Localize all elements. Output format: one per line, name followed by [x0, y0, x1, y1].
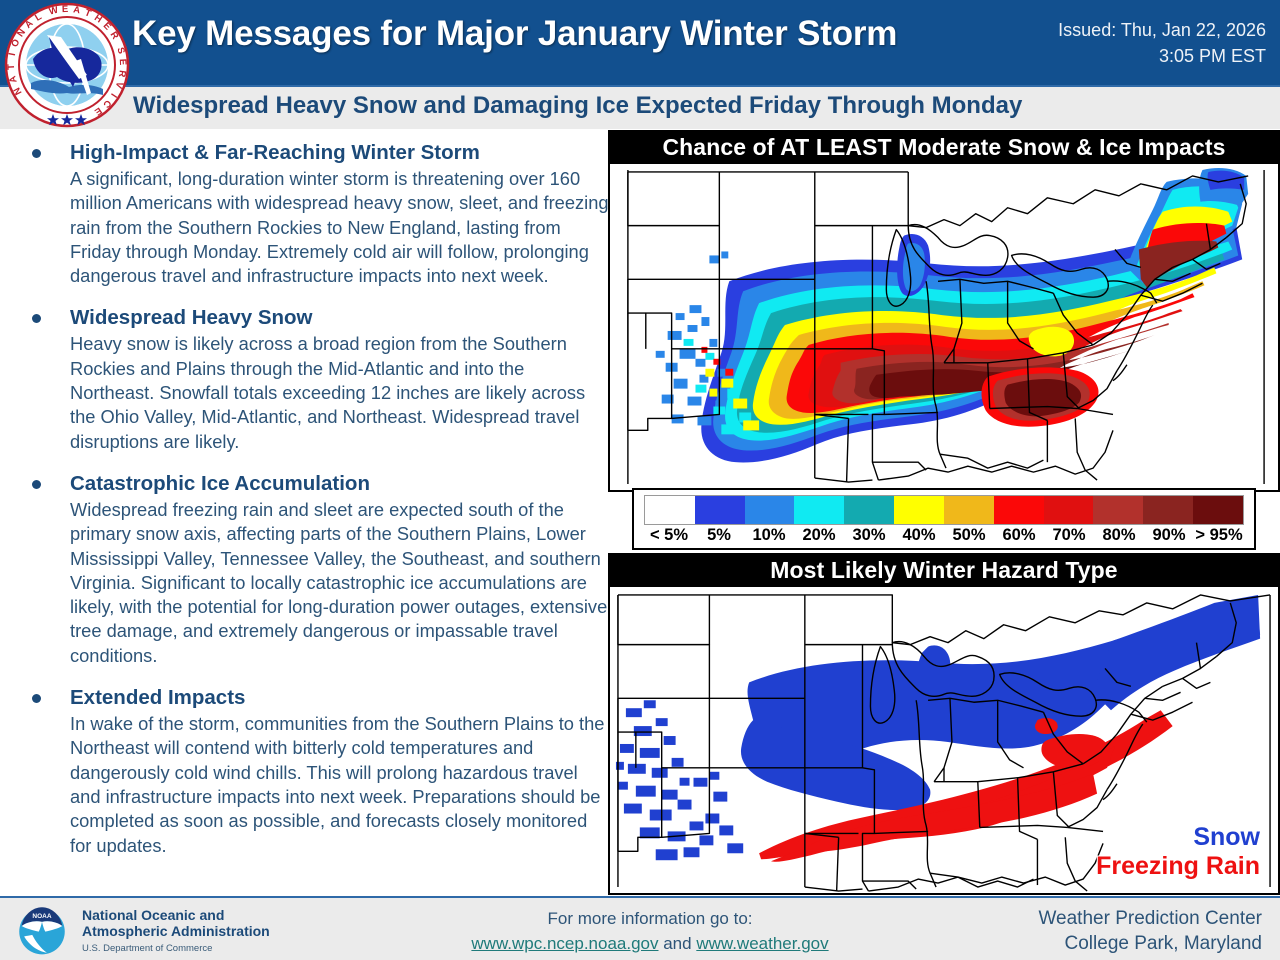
svg-text:T: T	[6, 64, 17, 70]
colorbar-swatch-4	[844, 496, 894, 524]
bullet-heading: Extended Impacts	[70, 685, 610, 712]
colorbar-label-4: 30%	[844, 526, 894, 545]
bullet-heading: Catastrophic Ice Accumulation	[70, 471, 610, 498]
colorbar-label-6: 50%	[944, 526, 994, 545]
bullet-heading: High-Impact & Far-Reaching Winter Storm	[70, 140, 610, 167]
national-weather-service-logo: N A T I O N A L W E A T H E R S E R V I …	[3, 1, 131, 129]
bullet-body: A significant, long-duration winter stor…	[70, 167, 610, 288]
colorbar-label-11: > 95%	[1194, 526, 1244, 545]
issuing-office: Weather Prediction Center College Park, …	[1038, 906, 1262, 956]
colorbar-swatch-0	[645, 496, 695, 524]
footer-links: www.wpc.ncep.noaa.gov and www.weather.go…	[420, 931, 880, 956]
colorbar-swatches	[644, 495, 1244, 525]
noaa-line-1: National Oceanic and	[82, 907, 270, 923]
noaa-line-2: Atmospheric Administration	[82, 923, 270, 939]
bullet-body: Heavy snow is likely across a broad regi…	[70, 332, 610, 453]
colorbar-label-2: 10%	[744, 526, 794, 545]
office-name: Weather Prediction Center	[1038, 906, 1262, 931]
legend-freezing-rain-label: Freezing Rain	[1096, 852, 1260, 881]
noaa-line-3: U.S. Department of Commerce	[82, 942, 270, 956]
colorbar-swatch-6	[944, 496, 994, 524]
weather-gov-link[interactable]: www.weather.gov	[696, 934, 828, 953]
key-messages-graphic: Key Messages for Major January Winter St…	[0, 0, 1280, 960]
colorbar-swatch-10	[1143, 496, 1193, 524]
colorbar-label-3: 20%	[794, 526, 844, 545]
bullet-body: Widespread freezing rain and sleet are e…	[70, 498, 610, 668]
list-item: Catastrophic Ice Accumulation Widespread…	[20, 471, 610, 668]
hazard-type-map-frame: Snow Freezing Rain	[608, 587, 1280, 895]
colorbar-label-7: 60%	[994, 526, 1044, 545]
list-item: Widespread Heavy Snow Heavy snow is like…	[20, 305, 610, 453]
colorbar-label-9: 80%	[1094, 526, 1144, 545]
colorbar-label-0: < 5%	[644, 526, 694, 545]
wpc-link[interactable]: www.wpc.ncep.noaa.gov	[471, 934, 658, 953]
issued-timestamp: Issued: Thu, Jan 22, 2026 3:05 PM EST	[1016, 17, 1266, 69]
hazard-type-legend: Snow Freezing Rain	[1096, 823, 1260, 881]
bullet-dot-icon	[32, 149, 41, 158]
page-title: Key Messages for Major January Winter St…	[132, 14, 1012, 54]
colorbar-label-8: 70%	[1044, 526, 1094, 545]
colorbar-labels: < 5%5%10%20%30%40%50%60%70%80%90%> 95%	[644, 526, 1244, 545]
footer-bar: NOAA National Oceanic and Atmospheric Ad…	[0, 896, 1280, 960]
colorbar-swatch-2	[745, 496, 795, 524]
more-information: For more information go to: www.wpc.ncep…	[420, 906, 880, 956]
bullet-heading: Widespread Heavy Snow	[70, 305, 610, 332]
svg-text:E: E	[117, 59, 128, 66]
subtitle: Widespread Heavy Snow and Damaging Ice E…	[133, 92, 1022, 120]
noaa-logo: NOAA	[16, 904, 68, 956]
list-item: High-Impact & Far-Reaching Winter Storm …	[20, 140, 610, 288]
svg-text:NOAA: NOAA	[32, 913, 51, 920]
noaa-agency-name: National Oceanic and Atmospheric Adminis…	[82, 907, 270, 956]
svg-text:E: E	[62, 4, 69, 15]
probability-colorbar: < 5%5%10%20%30%40%50%60%70%80%90%> 95%	[632, 488, 1256, 550]
colorbar-swatch-3	[794, 496, 844, 524]
colorbar-swatch-1	[695, 496, 745, 524]
bullet-body: In wake of the storm, communities from t…	[70, 712, 610, 858]
hazard-type-map-panel: Most Likely Winter Hazard Type	[608, 553, 1280, 895]
colorbar-label-5: 40%	[894, 526, 944, 545]
probability-map-image	[610, 164, 1278, 490]
probability-map-title: Chance of AT LEAST Moderate Snow & Ice I…	[608, 130, 1280, 164]
probability-map-frame	[608, 164, 1280, 492]
bullet-dot-icon	[32, 314, 41, 323]
colorbar-swatch-7	[994, 496, 1044, 524]
issued-date: Issued: Thu, Jan 22, 2026	[1016, 17, 1266, 43]
colorbar-swatch-9	[1093, 496, 1143, 524]
colorbar-swatch-11	[1193, 496, 1243, 524]
key-messages-list: High-Impact & Far-Reaching Winter Storm …	[20, 140, 610, 875]
issued-time: 3:05 PM EST	[1016, 43, 1266, 69]
colorbar-label-1: 5%	[694, 526, 744, 545]
bullet-dot-icon	[32, 480, 41, 489]
colorbar-label-10: 90%	[1144, 526, 1194, 545]
link-conjunction: and	[659, 934, 697, 953]
more-info-label: For more information go to:	[420, 906, 880, 931]
bullet-dot-icon	[32, 694, 41, 703]
hazard-type-map-title: Most Likely Winter Hazard Type	[608, 553, 1280, 587]
list-item: Extended Impacts In wake of the storm, c…	[20, 685, 610, 858]
colorbar-swatch-8	[1044, 496, 1094, 524]
probability-map-panel: Chance of AT LEAST Moderate Snow & Ice I…	[608, 130, 1280, 550]
colorbar-swatch-5	[894, 496, 944, 524]
legend-snow-label: Snow	[1096, 823, 1260, 852]
office-location: College Park, Maryland	[1038, 931, 1262, 956]
